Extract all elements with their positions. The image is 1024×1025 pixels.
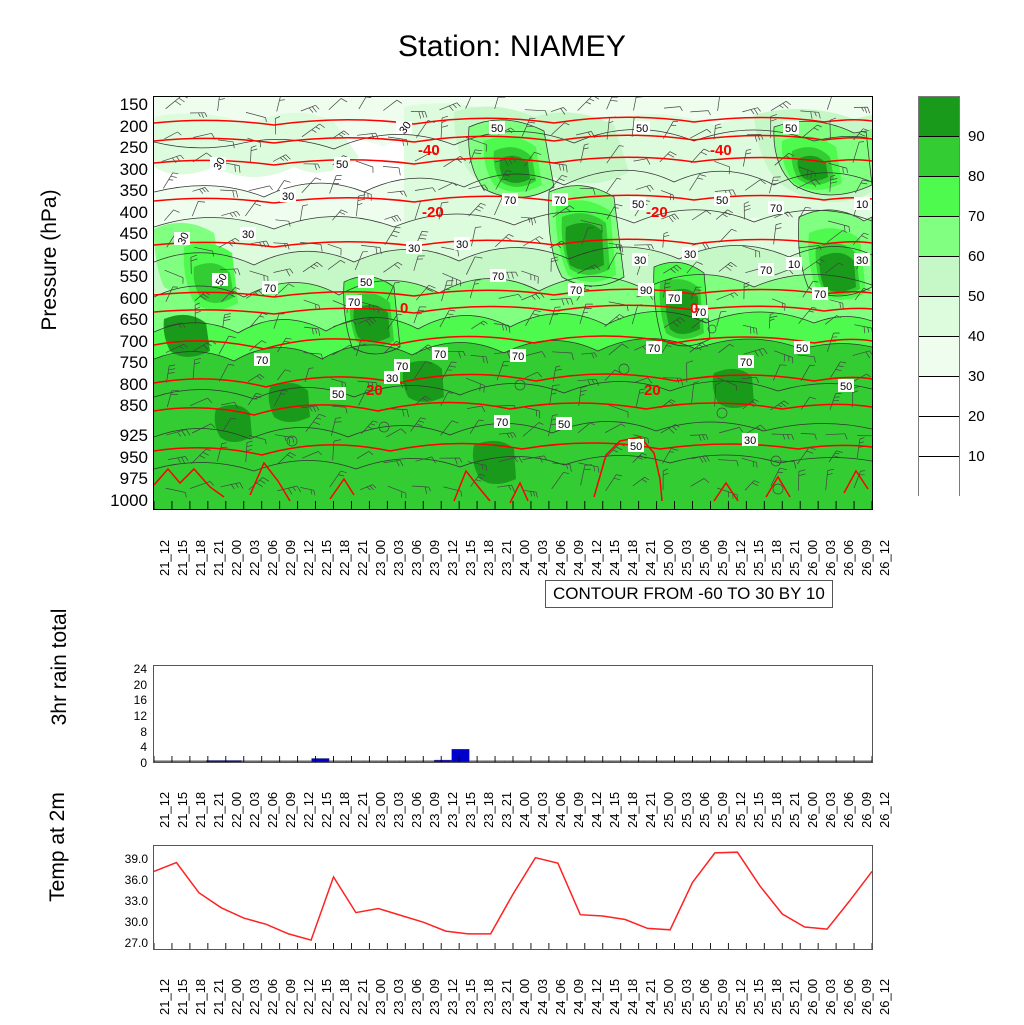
rain-bar (697, 761, 715, 762)
rain-bar (382, 761, 400, 762)
svg-text:20: 20 (644, 382, 661, 399)
rain-xtick-24_03: 24_03 (536, 792, 549, 828)
rain-xtick-25_09: 25_09 (716, 792, 729, 828)
main-xtick-24_18: 24_18 (626, 540, 639, 576)
temp-xtick-25_18: 25_18 (770, 979, 783, 1015)
pressure-tick-650: 650 (120, 311, 148, 328)
rain-bar (399, 761, 417, 762)
main-xtick-25_06: 25_06 (698, 540, 711, 576)
temp-xtick-23_00: 23_00 (374, 979, 387, 1015)
rain-xtick-21_18: 21_18 (194, 792, 207, 828)
temp-axis-ticklabels: 27.030.033.036.039.0 (88, 838, 148, 958)
svg-text:70: 70 (740, 357, 752, 369)
pressure-tick-150: 150 (120, 96, 148, 113)
temp-xtick-22_12: 22_12 (302, 979, 315, 1015)
svg-text:70: 70 (554, 195, 566, 207)
rain-xtick-26_12: 26_12 (878, 792, 891, 828)
rain-ytick-24: 24 (134, 663, 147, 675)
rain-bar (837, 761, 855, 762)
rain-bar (679, 761, 697, 762)
main-xtick-24_15: 24_15 (608, 540, 621, 576)
svg-text:50: 50 (336, 159, 348, 171)
temp-xtick-24_03: 24_03 (536, 979, 549, 1015)
rain-bar (662, 761, 680, 762)
temp-xtick-23_21: 23_21 (500, 979, 513, 1015)
temp-xtick-24_09: 24_09 (572, 979, 585, 1015)
temp-ytick-30.0: 30.0 (125, 916, 148, 928)
colorbar-band-8 (919, 417, 959, 457)
svg-text:30: 30 (242, 229, 254, 241)
main-xtick-22_21: 22_21 (356, 540, 369, 576)
colorbar (918, 96, 960, 496)
main-xtick-22_03: 22_03 (248, 540, 261, 576)
main-xtick-22_09: 22_09 (284, 540, 297, 576)
rain-bar (312, 759, 330, 763)
colorbar-band-4 (919, 257, 959, 297)
rain-xtick-26_00: 26_00 (806, 792, 819, 828)
temp-chart-panel[interactable] (153, 845, 873, 950)
colorbar-band-3 (919, 217, 959, 257)
rain-bar (627, 761, 645, 762)
rain-ytick-12: 12 (134, 710, 147, 722)
svg-text:0: 0 (400, 300, 408, 317)
rain-bar (294, 761, 312, 762)
svg-text:50: 50 (796, 343, 808, 355)
rain-xtick-25_00: 25_00 (662, 792, 675, 828)
colorbar-label-50: 50 (968, 289, 985, 304)
temp-axis-title: Temp at 2m (46, 717, 70, 977)
pressure-tick-975: 975 (120, 470, 148, 487)
temp-xtick-25_03: 25_03 (680, 979, 693, 1015)
svg-text:30: 30 (282, 191, 294, 203)
main-xtick-25_03: 25_03 (680, 540, 693, 576)
pressure-tick-700: 700 (120, 333, 148, 350)
rain-xtick-24_09: 24_09 (572, 792, 585, 828)
rain-xtick-25_15: 25_15 (752, 792, 765, 828)
rain-xtick-22_21: 22_21 (356, 792, 369, 828)
rain-bar (347, 761, 365, 762)
temp-xtick-24_06: 24_06 (554, 979, 567, 1015)
pressure-tick-550: 550 (120, 268, 148, 285)
rain-xtick-21_21: 21_21 (212, 792, 225, 828)
colorbar-labels: 908070605040302010 (968, 96, 1018, 496)
svg-text:30: 30 (408, 243, 420, 255)
colorbar-label-80: 80 (968, 169, 985, 184)
rain-bar (364, 761, 382, 762)
main-xtick-22_18: 22_18 (338, 540, 351, 576)
colorbar-label-90: 90 (968, 129, 985, 144)
main-xtick-25_15: 25_15 (752, 540, 765, 576)
main-xaxis-labels: 21_1221_1521_1821_2122_0022_0322_0622_09… (153, 516, 883, 586)
contour-plot-panel[interactable]: 30 50 50 50 30 50 30 70 70 50 50 70 10 3… (153, 96, 873, 510)
temp-xtick-22_09: 22_09 (284, 979, 297, 1015)
rain-xtick-25_18: 25_18 (770, 792, 783, 828)
main-xtick-21_12: 21_12 (158, 540, 171, 576)
temp-xtick-25_15: 25_15 (752, 979, 765, 1015)
rain-xtick-24_18: 24_18 (626, 792, 639, 828)
pressure-tick-600: 600 (120, 290, 148, 307)
svg-text:30: 30 (744, 435, 756, 447)
temp-ytick-36.0: 36.0 (125, 874, 148, 886)
svg-text:30: 30 (386, 373, 398, 385)
svg-text:-40: -40 (418, 142, 440, 159)
colorbar-label-20: 20 (968, 409, 985, 424)
main-xtick-22_06: 22_06 (266, 540, 279, 576)
svg-text:70: 70 (492, 271, 504, 283)
svg-text:70: 70 (570, 285, 582, 297)
rain-bar (557, 761, 575, 762)
rain-ytick-16: 16 (134, 694, 147, 706)
temp-xtick-25_06: 25_06 (698, 979, 711, 1015)
main-xtick-26_12: 26_12 (878, 540, 891, 576)
temp-xtick-23_09: 23_09 (428, 979, 441, 1015)
rain-xtick-22_12: 22_12 (302, 792, 315, 828)
temp-xtick-22_03: 22_03 (248, 979, 261, 1015)
main-xtick-24_21: 24_21 (644, 540, 657, 576)
colorbar-band-0 (919, 97, 959, 137)
svg-text:30: 30 (456, 239, 468, 251)
main-xtick-26_00: 26_00 (806, 540, 819, 576)
rain-bar (207, 761, 225, 763)
rain-xtick-26_06: 26_06 (842, 792, 855, 828)
temp-ytick-39.0: 39.0 (125, 853, 148, 865)
temp-xtick-24_21: 24_21 (644, 979, 657, 1015)
colorbar-band-6 (919, 337, 959, 377)
svg-text:70: 70 (648, 343, 660, 355)
svg-text:50: 50 (636, 123, 648, 135)
pressure-tick-300: 300 (120, 161, 148, 178)
rain-xtick-23_18: 23_18 (482, 792, 495, 828)
main-xtick-23_18: 23_18 (482, 540, 495, 576)
main-xtick-22_12: 22_12 (302, 540, 315, 576)
temp-xtick-26_12: 26_12 (878, 979, 891, 1015)
main-xtick-25_12: 25_12 (734, 540, 747, 576)
rain-xaxis-labels: 21_1221_1521_1821_2122_0022_0322_0622_09… (153, 768, 883, 838)
rain-ytick-8: 8 (140, 726, 147, 738)
temp-xtick-24_15: 24_15 (608, 979, 621, 1015)
rain-xtick-21_15: 21_15 (176, 792, 189, 828)
rain-xtick-23_15: 23_15 (464, 792, 477, 828)
rain-bar (767, 761, 785, 762)
rain-bar (452, 749, 470, 762)
svg-text:50: 50 (332, 389, 344, 401)
colorbar-label-70: 70 (968, 209, 985, 224)
rain-bar (609, 761, 627, 762)
rain-xtick-24_06: 24_06 (554, 792, 567, 828)
pressure-tick-350: 350 (120, 182, 148, 199)
rain-bar (539, 761, 557, 762)
main-xtick-25_21: 25_21 (788, 540, 801, 576)
svg-text:70: 70 (434, 349, 446, 361)
rain-xtick-23_00: 23_00 (374, 792, 387, 828)
svg-text:50: 50 (716, 195, 728, 207)
main-xtick-25_18: 25_18 (770, 540, 783, 576)
pressure-tick-400: 400 (120, 204, 148, 221)
temp-xtick-26_09: 26_09 (860, 979, 873, 1015)
rain-bar (574, 761, 592, 762)
rain-xtick-22_00: 22_00 (230, 792, 243, 828)
rain-xtick-26_09: 26_09 (860, 792, 873, 828)
svg-text:70: 70 (770, 203, 782, 215)
svg-text:70: 70 (496, 417, 508, 429)
svg-text:20: 20 (366, 382, 383, 399)
main-xtick-24_09: 24_09 (572, 540, 585, 576)
svg-text:70: 70 (348, 297, 360, 309)
pressure-axis-ticklabels: 1502002503003504004505005506006507007508… (70, 88, 148, 518)
temp-xtick-25_09: 25_09 (716, 979, 729, 1015)
main-xtick-26_06: 26_06 (842, 540, 855, 576)
rain-bar (434, 760, 452, 762)
svg-text:30: 30 (684, 249, 696, 261)
rain-xtick-22_06: 22_06 (266, 792, 279, 828)
svg-text:50: 50 (840, 381, 852, 393)
rain-bar (469, 761, 487, 762)
temp-xtick-23_15: 23_15 (464, 979, 477, 1015)
rain-xtick-22_18: 22_18 (338, 792, 351, 828)
rain-xtick-23_12: 23_12 (446, 792, 459, 828)
pressure-tick-500: 500 (120, 247, 148, 264)
svg-text:50: 50 (785, 123, 797, 135)
colorbar-band-7 (919, 377, 959, 417)
main-xtick-22_15: 22_15 (320, 540, 333, 576)
main-xtick-24_12: 24_12 (590, 540, 603, 576)
svg-text:10: 10 (788, 259, 800, 271)
pressure-tick-925: 925 (120, 427, 148, 444)
main-xtick-23_06: 23_06 (410, 540, 423, 576)
main-xtick-24_00: 24_00 (518, 540, 531, 576)
rain-bar (592, 761, 610, 762)
rain-xtick-22_09: 22_09 (284, 792, 297, 828)
temp-xtick-24_12: 24_12 (590, 979, 603, 1015)
rain-bar (224, 761, 242, 763)
main-xtick-25_00: 25_00 (662, 540, 675, 576)
rain-xtick-24_21: 24_21 (644, 792, 657, 828)
temp-xtick-21_21: 21_21 (212, 979, 225, 1015)
rain-xtick-23_03: 23_03 (392, 792, 405, 828)
main-xtick-23_00: 23_00 (374, 540, 387, 576)
svg-text:70: 70 (504, 195, 516, 207)
main-xtick-21_21: 21_21 (212, 540, 225, 576)
rain-xtick-22_15: 22_15 (320, 792, 333, 828)
main-xtick-21_15: 21_15 (176, 540, 189, 576)
rain-axis-ticklabels: 04812162024 (95, 658, 147, 770)
svg-text:10: 10 (856, 199, 868, 211)
main-xtick-24_06: 24_06 (554, 540, 567, 576)
temp-xtick-25_00: 25_00 (662, 979, 675, 1015)
svg-text:-40: -40 (710, 142, 732, 159)
rain-xtick-24_00: 24_00 (518, 792, 531, 828)
rain-xtick-25_21: 25_21 (788, 792, 801, 828)
main-xtick-26_03: 26_03 (824, 540, 837, 576)
svg-text:90: 90 (640, 285, 652, 297)
colorbar-label-10: 10 (968, 449, 985, 464)
svg-text:70: 70 (760, 265, 772, 277)
main-xtick-22_00: 22_00 (230, 540, 243, 576)
colorbar-band-5 (919, 297, 959, 337)
main-xtick-23_21: 23_21 (500, 540, 513, 576)
page-title: Station: NIAMEY (0, 30, 1024, 64)
svg-text:-20: -20 (422, 204, 444, 221)
rain-bar (855, 761, 873, 762)
rain-xtick-23_06: 23_06 (410, 792, 423, 828)
rain-xtick-25_06: 25_06 (698, 792, 711, 828)
rain-ytick-4: 4 (140, 741, 147, 753)
svg-text:70: 70 (512, 351, 524, 363)
temp-xtick-25_21: 25_21 (788, 979, 801, 1015)
rain-bar (784, 761, 802, 762)
temp-xtick-26_00: 26_00 (806, 979, 819, 1015)
rain-xtick-25_03: 25_03 (680, 792, 693, 828)
rain-bar (189, 761, 207, 762)
svg-text:-20: -20 (646, 204, 668, 221)
rain-xtick-25_12: 25_12 (734, 792, 747, 828)
temp-xtick-26_03: 26_03 (824, 979, 837, 1015)
svg-text:50: 50 (630, 441, 642, 453)
rain-xtick-26_03: 26_03 (824, 792, 837, 828)
temp-xtick-22_00: 22_00 (230, 979, 243, 1015)
main-xtick-24_03: 24_03 (536, 540, 549, 576)
temp-xtick-24_18: 24_18 (626, 979, 639, 1015)
rain-bar (172, 761, 190, 762)
main-xtick-23_09: 23_09 (428, 540, 441, 576)
rain-xtick-23_09: 23_09 (428, 792, 441, 828)
main-xtick-21_18: 21_18 (194, 540, 207, 576)
temp-xtick-21_12: 21_12 (158, 979, 171, 1015)
temp-xaxis-labels: 21_1221_1521_1821_2122_0022_0322_0622_09… (153, 955, 883, 1025)
pressure-tick-200: 200 (120, 118, 148, 135)
main-xtick-26_09: 26_09 (860, 540, 873, 576)
main-xtick-25_09: 25_09 (716, 540, 729, 576)
svg-text:50: 50 (491, 123, 503, 135)
colorbar-label-60: 60 (968, 249, 985, 264)
main-xtick-23_03: 23_03 (392, 540, 405, 576)
rain-xtick-24_15: 24_15 (608, 792, 621, 828)
svg-text:50: 50 (360, 277, 372, 289)
temp-xtick-22_21: 22_21 (356, 979, 369, 1015)
colorbar-label-30: 30 (968, 369, 985, 384)
temp-xtick-26_06: 26_06 (842, 979, 855, 1015)
temp-xtick-24_00: 24_00 (518, 979, 531, 1015)
rain-bar (329, 761, 347, 762)
svg-text:70: 70 (264, 283, 276, 295)
temp-xtick-22_06: 22_06 (266, 979, 279, 1015)
svg-text:70: 70 (256, 355, 268, 367)
pressure-tick-800: 800 (120, 376, 148, 393)
rain-xtick-21_12: 21_12 (158, 792, 171, 828)
rain-bar (417, 761, 435, 762)
svg-text:50: 50 (558, 419, 570, 431)
temp-xtick-23_18: 23_18 (482, 979, 495, 1015)
pressure-tick-750: 750 (120, 354, 148, 371)
svg-text:50: 50 (632, 199, 644, 211)
temp-xtick-23_06: 23_06 (410, 979, 423, 1015)
temp-ytick-33.0: 33.0 (125, 895, 148, 907)
colorbar-band-1 (919, 137, 959, 177)
rain-xtick-24_12: 24_12 (590, 792, 603, 828)
svg-text:70: 70 (668, 293, 680, 305)
rain-bar (242, 761, 260, 762)
rain-ytick-0: 0 (140, 757, 147, 769)
colorbar-band-2 (919, 177, 959, 217)
temp-ytick-27.0: 27.0 (125, 937, 148, 949)
temp-xtick-23_03: 23_03 (392, 979, 405, 1015)
pressure-axis-title: Pressure (hPa) (38, 130, 62, 390)
pressure-tick-850: 850 (120, 397, 148, 414)
pressure-tick-450: 450 (120, 225, 148, 242)
svg-text:30: 30 (856, 255, 868, 267)
rain-bar (154, 761, 172, 762)
temp-xtick-21_15: 21_15 (176, 979, 189, 1015)
svg-text:0: 0 (690, 300, 698, 317)
rain-bar (714, 761, 732, 762)
pressure-tick-250: 250 (120, 139, 148, 156)
rain-bar (820, 761, 838, 762)
temp-xtick-22_15: 22_15 (320, 979, 333, 1015)
pressure-tick-1000: 1000 (110, 492, 148, 509)
pressure-tick-950: 950 (120, 449, 148, 466)
main-xtick-23_15: 23_15 (464, 540, 477, 576)
rain-bar (802, 761, 820, 762)
svg-text:30: 30 (634, 255, 646, 267)
colorbar-band-9 (919, 457, 959, 497)
rain-xtick-23_21: 23_21 (500, 792, 513, 828)
temp-xtick-21_18: 21_18 (194, 979, 207, 1015)
rain-chart-panel[interactable] (153, 665, 873, 763)
temp-xtick-22_18: 22_18 (338, 979, 351, 1015)
rain-bar (644, 761, 662, 762)
rain-ytick-20: 20 (134, 679, 147, 691)
main-xtick-23_12: 23_12 (446, 540, 459, 576)
rain-xtick-22_03: 22_03 (248, 792, 261, 828)
contour-note: CONTOUR FROM -60 TO 30 BY 10 (545, 580, 833, 608)
colorbar-label-40: 40 (968, 329, 985, 344)
svg-text:70: 70 (814, 289, 826, 301)
temp-xtick-25_12: 25_12 (734, 979, 747, 1015)
temp-xtick-23_12: 23_12 (446, 979, 459, 1015)
